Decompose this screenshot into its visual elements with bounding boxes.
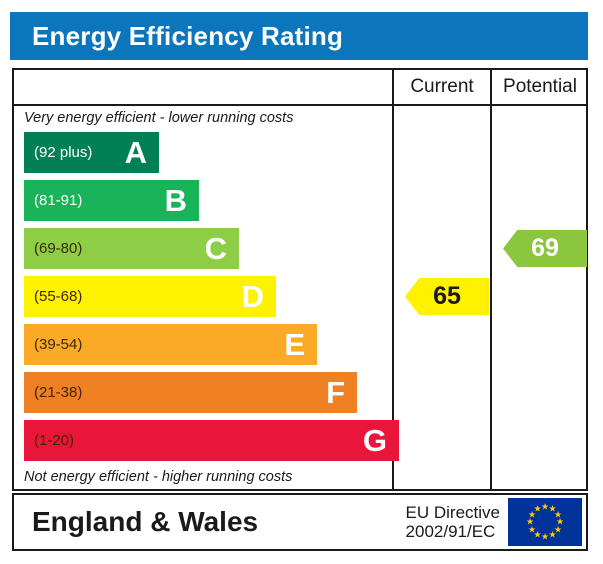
column-divider-potential (490, 70, 492, 489)
page-title: Energy Efficiency Rating (10, 21, 343, 52)
current-rating-value: 65 (433, 282, 461, 311)
energy-rating-table: Current Potential Very energy efficient … (12, 68, 588, 491)
band-letter-b: B (165, 185, 199, 216)
directive-line-1: EU Directive (406, 503, 500, 522)
band-range-label: (55-68) (24, 288, 82, 305)
column-header-potential: Potential (492, 70, 588, 104)
band-range-label: (69-80) (24, 240, 82, 257)
band-range-label: (1-20) (24, 432, 74, 449)
current-rating-arrow: 65 (405, 278, 489, 315)
directive-line-2: 2002/91/EC (406, 522, 500, 541)
rating-band-f: (21-38)F (24, 372, 357, 413)
footer-region-label: England & Wales (14, 506, 406, 538)
rating-band-d: (55-68)D (24, 276, 276, 317)
band-range-label: (21-38) (24, 384, 82, 401)
rating-bands-list: (92 plus)A(81-91)B(69-80)C(55-68)D(39-54… (14, 132, 392, 468)
band-letter-e: E (284, 329, 317, 360)
caption-not-efficient: Not energy efficient - higher running co… (24, 469, 292, 485)
band-letter-f: F (326, 377, 357, 408)
rating-band-g: (1-20)G (24, 420, 399, 461)
rating-band-c: (69-80)C (24, 228, 239, 269)
footer-directive-text: EU Directive 2002/91/EC (406, 503, 508, 541)
potential-rating-arrow: 69 (503, 230, 587, 267)
efficiency-scale-area: Very energy efficient - lower running co… (14, 106, 392, 489)
column-header-current: Current (394, 70, 490, 104)
rating-band-e: (39-54)E (24, 324, 317, 365)
potential-rating-value: 69 (531, 234, 559, 263)
band-range-label: (39-54) (24, 336, 82, 353)
chart-footer: England & Wales EU Directive 2002/91/EC … (12, 493, 588, 551)
band-letter-c: C (205, 233, 239, 264)
chart-header-banner: Energy Efficiency Rating (10, 12, 588, 60)
rating-band-b: (81-91)B (24, 180, 199, 221)
eu-flag-icon: ★★★★★★★★★★★★ (508, 498, 582, 546)
band-letter-d: D (242, 281, 276, 312)
eu-flag-star: ★ (533, 505, 542, 514)
band-range-label: (92 plus) (24, 144, 92, 161)
band-range-label: (81-91) (24, 192, 82, 209)
rating-band-a: (92 plus)A (24, 132, 159, 173)
caption-very-efficient: Very energy efficient - lower running co… (24, 110, 293, 126)
band-letter-g: G (363, 425, 399, 456)
table-header-row: Current Potential (14, 70, 586, 106)
band-letter-a: A (125, 137, 159, 168)
